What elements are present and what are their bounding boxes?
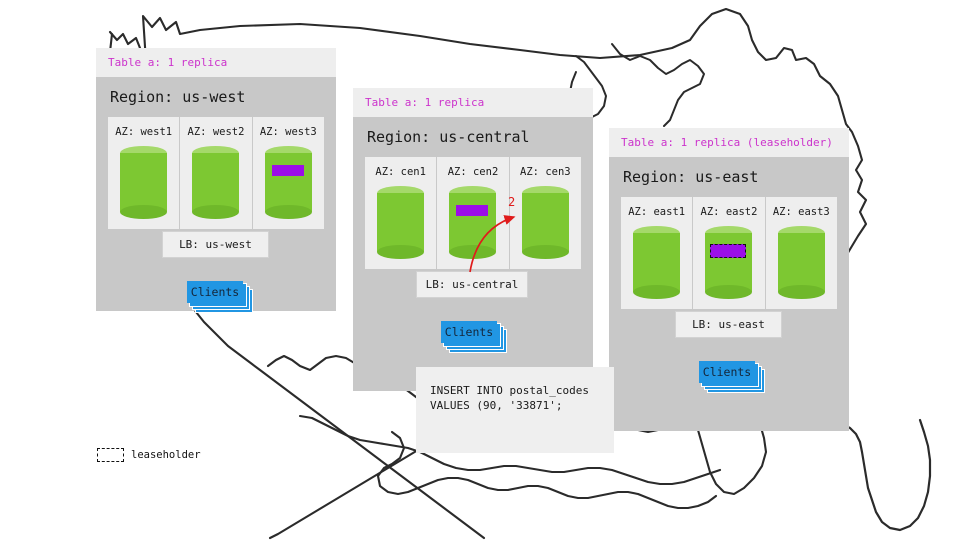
az-label-west3: AZ: west3 — [260, 126, 317, 138]
region-banner-us-west: Table a: 1 replica — [96, 48, 336, 77]
replica-marker-west3 — [272, 165, 304, 176]
az-cell-cen1[interactable]: AZ: cen1 — [365, 157, 437, 269]
legend-leaseholder: leaseholder — [97, 448, 201, 462]
load-balancer-us-west[interactable]: LB: us-west — [162, 231, 269, 258]
az-row-us-central: AZ: cen1 AZ: cen2 — [365, 157, 581, 269]
az-cell-east2[interactable]: AZ: east2 — [693, 197, 765, 309]
clients-label-us-east: Clients — [699, 361, 755, 383]
clients-button-us-east[interactable]: Clients — [699, 361, 767, 393]
sql-statement-note: INSERT INTO postal_codes VALUES (90, '33… — [416, 367, 614, 453]
az-label-east3: AZ: east3 — [773, 206, 830, 218]
node-cylinder-cen1[interactable] — [377, 186, 424, 259]
node-cylinder-cen2[interactable] — [449, 186, 496, 259]
node-cylinder-east3[interactable] — [778, 226, 825, 299]
region-title-us-east: Region: us-east — [609, 157, 849, 197]
clients-button-us-west[interactable]: Clients — [187, 281, 255, 313]
az-cell-cen3[interactable]: AZ: cen3 — [510, 157, 581, 269]
node-cylinder-east1[interactable] — [633, 226, 680, 299]
region-title-us-central: Region: us-central — [353, 117, 593, 157]
az-label-cen3: AZ: cen3 — [520, 166, 571, 178]
az-label-cen2: AZ: cen2 — [448, 166, 499, 178]
region-panel-us-west: Table a: 1 replica Region: us-west AZ: w… — [96, 48, 336, 311]
clients-label-us-west: Clients — [187, 281, 243, 303]
clients-label-us-central: Clients — [441, 321, 497, 343]
diagram-canvas: Table a: 1 replica Region: us-west AZ: w… — [0, 0, 960, 540]
region-banner-us-east: Table a: 1 replica (leaseholder) — [609, 128, 849, 157]
clients-button-us-central[interactable]: Clients — [441, 321, 509, 353]
node-cylinder-west2[interactable] — [192, 146, 239, 219]
node-cylinder-west1[interactable] — [120, 146, 167, 219]
az-cell-east3[interactable]: AZ: east3 — [766, 197, 837, 309]
region-title-us-west: Region: us-west — [96, 77, 336, 117]
node-cylinder-west3[interactable] — [265, 146, 312, 219]
region-banner-us-central: Table a: 1 replica — [353, 88, 593, 117]
legend-dashed-swatch-icon — [97, 448, 124, 462]
leaseholder-marker-east2 — [710, 244, 746, 258]
load-balancer-us-east[interactable]: LB: us-east — [675, 311, 782, 338]
az-label-cen1: AZ: cen1 — [375, 166, 426, 178]
node-cylinder-east2[interactable] — [705, 226, 752, 299]
az-row-us-west: AZ: west1 AZ: west2 AZ — [108, 117, 324, 229]
az-cell-west1[interactable]: AZ: west1 — [108, 117, 180, 229]
region-body-us-west: Region: us-west AZ: west1 AZ: west2 — [96, 77, 336, 311]
node-cylinder-cen3[interactable] — [522, 186, 569, 259]
az-label-west2: AZ: west2 — [188, 126, 245, 138]
az-label-east1: AZ: east1 — [628, 206, 685, 218]
az-cell-west3[interactable]: AZ: west3 — [253, 117, 324, 229]
az-label-east2: AZ: east2 — [701, 206, 758, 218]
az-cell-cen2[interactable]: AZ: cen2 — [437, 157, 509, 269]
az-label-west1: AZ: west1 — [115, 126, 172, 138]
legend-label: leaseholder — [131, 449, 201, 461]
az-cell-west2[interactable]: AZ: west2 — [180, 117, 252, 229]
load-balancer-us-central[interactable]: LB: us-central — [416, 271, 528, 298]
az-cell-east1[interactable]: AZ: east1 — [621, 197, 693, 309]
az-row-us-east: AZ: east1 AZ: east2 — [621, 197, 837, 309]
replica-marker-cen2 — [456, 205, 488, 216]
